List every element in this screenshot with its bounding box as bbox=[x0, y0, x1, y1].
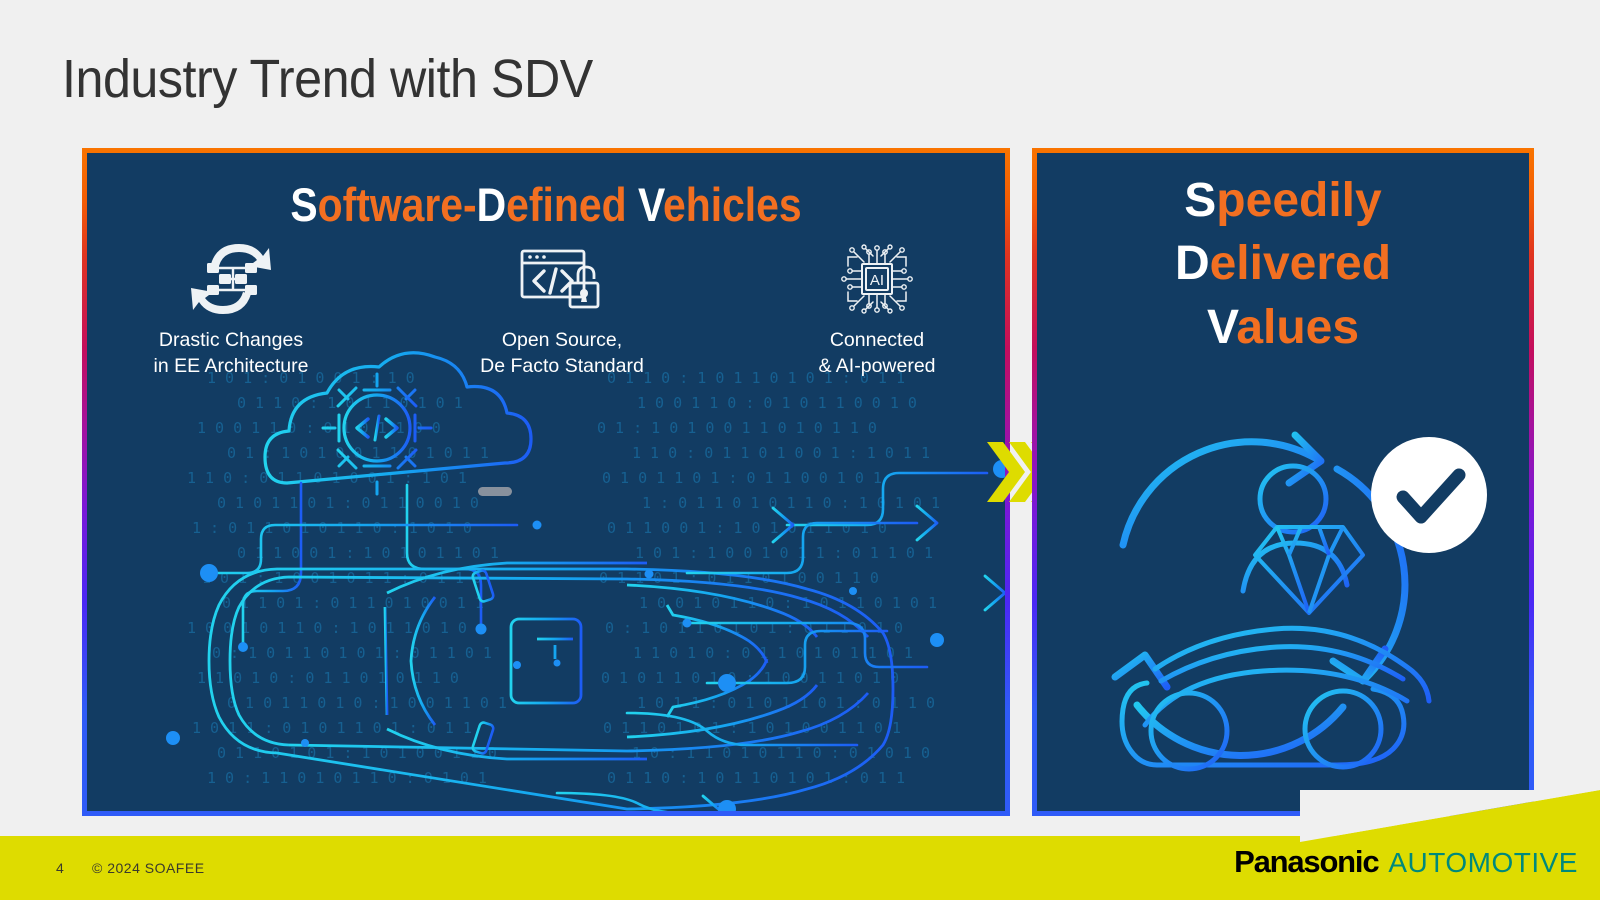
open-source-code-unlock-icon bbox=[432, 241, 692, 317]
heading-rest-ehicles: ehicles bbox=[663, 178, 802, 231]
svg-text:1 1 0 1 0 : 0 1 1 0 1 0 1 1 0: 1 1 0 1 0 : 0 1 1 0 1 0 1 1 0 1 bbox=[633, 644, 913, 662]
svg-text:1 0 1 1 : 0 1 0 1 1 0 1 : 0 1: 1 0 1 1 : 0 1 0 1 1 0 1 : 0 1 1 0 bbox=[637, 694, 935, 712]
diamond-gem-icon bbox=[1255, 527, 1363, 613]
svg-text:1 1 0 1 0 : 0 1 1 0 1 0 1 1 0: 1 1 0 1 0 : 0 1 1 0 1 0 1 1 0 bbox=[197, 669, 459, 687]
svg-text:0 1 1 0 1 : 0 1 1 0 1 0 0 1 1: 0 1 1 0 1 : 0 1 1 0 1 0 0 1 1 bbox=[222, 594, 484, 612]
svg-text:0 : 1 0 1 1 0 1 0 1 : 0 1 1 0: 0 : 1 0 1 1 0 1 0 1 : 0 1 1 0 1 bbox=[212, 644, 492, 662]
svg-text:AI: AI bbox=[870, 272, 884, 289]
svg-text:1 0 : 1 1 0 1 0 1 1 0 : 0 1 0: 1 0 : 1 1 0 1 0 1 1 0 : 0 1 0 1 0 bbox=[632, 744, 930, 762]
svg-text:1 0 0 1 0 1 1 0 : 1 0 1 1 0 1: 1 0 0 1 0 1 1 0 : 1 0 1 1 0 1 0 1 bbox=[639, 594, 937, 612]
feature-label-line2: in EE Architecture bbox=[101, 353, 361, 379]
feature-open-source: Open Source, De Facto Standard bbox=[432, 241, 692, 380]
slide-root: Industry Trend with SDV 1 0 1 : 0 1 0 0 … bbox=[0, 0, 1600, 900]
svg-text:0 1 0 1 1 0 1 : 0 1 1 0 0 1 0: 0 1 0 1 1 0 1 : 0 1 1 0 0 1 0 1 bbox=[602, 469, 882, 487]
check-circle-icon bbox=[1371, 437, 1487, 553]
feature-connected-ai: AI bbox=[747, 241, 1005, 380]
feature-drastic-changes: Drastic Changes in EE Architecture bbox=[101, 241, 361, 380]
feature-label-line2: & AI-powered bbox=[747, 353, 1005, 379]
ee-architecture-refresh-icon bbox=[101, 241, 361, 317]
feature-label: Connected & AI-powered bbox=[747, 327, 1005, 380]
svg-text:1 : 0 1 1 0 1 0 1 1 0 : 1 0 1: 1 : 0 1 1 0 1 0 1 1 0 : 1 0 1 0 1 bbox=[642, 494, 940, 512]
heading-line-speedily: Speedily bbox=[1037, 169, 1529, 232]
continuous-delivery-value-illustration bbox=[1037, 283, 1529, 811]
heading-initial-d: D bbox=[477, 178, 507, 231]
right-panel: Speedily Delivered Values bbox=[1037, 153, 1529, 811]
feature-label-line2: De Facto Standard bbox=[432, 353, 692, 379]
svg-text:1 0 1 : 1 0 0 1 0 1 1 : 0 1 1: 1 0 1 : 1 0 0 1 0 1 1 : 0 1 1 0 1 bbox=[635, 544, 933, 562]
left-panel: 1 0 1 : 0 1 0 0 1 : 1 0 0 1 1 0 : 1 0 1 … bbox=[87, 153, 1005, 811]
heading-initial-s: S bbox=[290, 178, 317, 231]
page-title: Industry Trend with SDV bbox=[62, 48, 593, 110]
ai-chip-icon: AI bbox=[747, 241, 1005, 317]
feature-row: Drastic Changes in EE Architecture bbox=[87, 241, 1005, 441]
heading-initial-s: S bbox=[1184, 174, 1216, 227]
brand-panasonic-label: Panasonic bbox=[1234, 844, 1378, 880]
footer-page-number: 4 bbox=[56, 860, 64, 876]
heading-rest-oftware: oftware- bbox=[318, 178, 477, 231]
footer-copyright: © 2024 SOAFEE bbox=[92, 860, 205, 876]
brand-automotive-label: AUTOMOTIVE bbox=[1388, 847, 1578, 879]
heading-rest-efined: efined bbox=[506, 178, 638, 231]
brand-logo: Panasonic AUTOMOTIVE bbox=[1234, 844, 1578, 880]
svg-text:0 1 1 0 0 1 : 1 0 1 0 1 1 0 1: 0 1 1 0 0 1 : 1 0 1 0 1 1 0 1 bbox=[237, 544, 499, 562]
svg-text:1 : 0 1 1 0 1 0 1 1 0 : 1 0 1: 1 : 0 1 1 0 1 0 1 1 0 : 1 0 1 0 bbox=[192, 519, 472, 537]
feature-label-line1: Drastic Changes bbox=[101, 327, 361, 353]
svg-text:1 0 1 1 : 0 1 0 1 1 0 1 : 0 1: 1 0 1 1 : 0 1 0 1 1 0 1 : 0 1 1 bbox=[192, 719, 472, 737]
feature-label: Drastic Changes in EE Architecture bbox=[101, 327, 361, 380]
feature-label-line1: Open Source, bbox=[432, 327, 692, 353]
redaction-mark bbox=[478, 487, 512, 496]
car-wheels bbox=[1151, 691, 1381, 769]
heading-initial-v: V bbox=[638, 178, 663, 231]
svg-text:0 1 0 1 1 0 1 0 : 1 0 0 1 1 0: 0 1 0 1 1 0 1 0 : 1 0 0 1 1 0 1 bbox=[227, 694, 507, 712]
svg-text:1 1 0 : 0 1 1 0 1 0 0 1 : 1 0: 1 1 0 : 0 1 1 0 1 0 0 1 : 1 0 1 1 bbox=[632, 444, 930, 462]
feature-label-line1: Connected bbox=[747, 327, 1005, 353]
left-panel-heading: Software-Defined Vehicles bbox=[147, 177, 946, 232]
svg-text:1 0 0 1 0 1 1 0 : 1 0 1 1 0 1: 1 0 0 1 0 1 1 0 : 1 0 1 1 0 1 0 bbox=[187, 619, 467, 637]
heading-rest-peedily: peedily bbox=[1216, 174, 1381, 227]
svg-text:0 1 1 0 : 1 0 1 1 0 1 0 1 : 0: 0 1 1 0 : 1 0 1 1 0 1 0 1 : 0 1 1 bbox=[607, 769, 905, 787]
svg-text:0 1 1 0 1 0 1 : 1 0 1 0 0 1 1: 0 1 1 0 1 0 1 : 1 0 1 0 0 1 1 0 1 bbox=[603, 719, 901, 737]
svg-text:1 0 : 1 1 0 1 0 1 1 0 : 0 1 0: 1 0 : 1 1 0 1 0 1 1 0 : 0 1 0 1 bbox=[207, 769, 487, 787]
feature-label: Open Source, De Facto Standard bbox=[432, 327, 692, 380]
